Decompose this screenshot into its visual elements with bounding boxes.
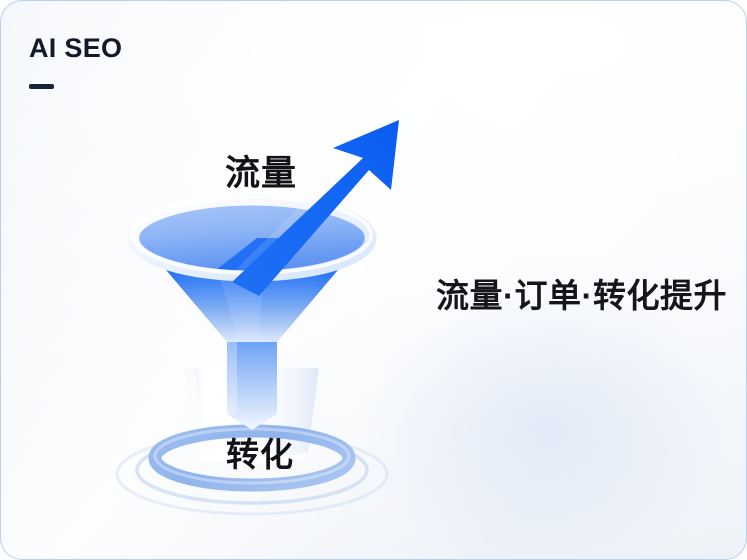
- brand-underline: [29, 84, 54, 89]
- headline-text: 流量·订单·转化提升: [436, 279, 727, 312]
- banner-canvas: AI SEO 流量·订单·转化提升: [0, 0, 747, 560]
- funnel-stem: [227, 332, 277, 430]
- page-title: AI SEO: [29, 35, 122, 62]
- funnel-label-conversion: 转化: [226, 438, 294, 471]
- funnel-illustration: 流量 转化: [61, 96, 461, 536]
- funnel-label-traffic: 流量: [225, 156, 297, 191]
